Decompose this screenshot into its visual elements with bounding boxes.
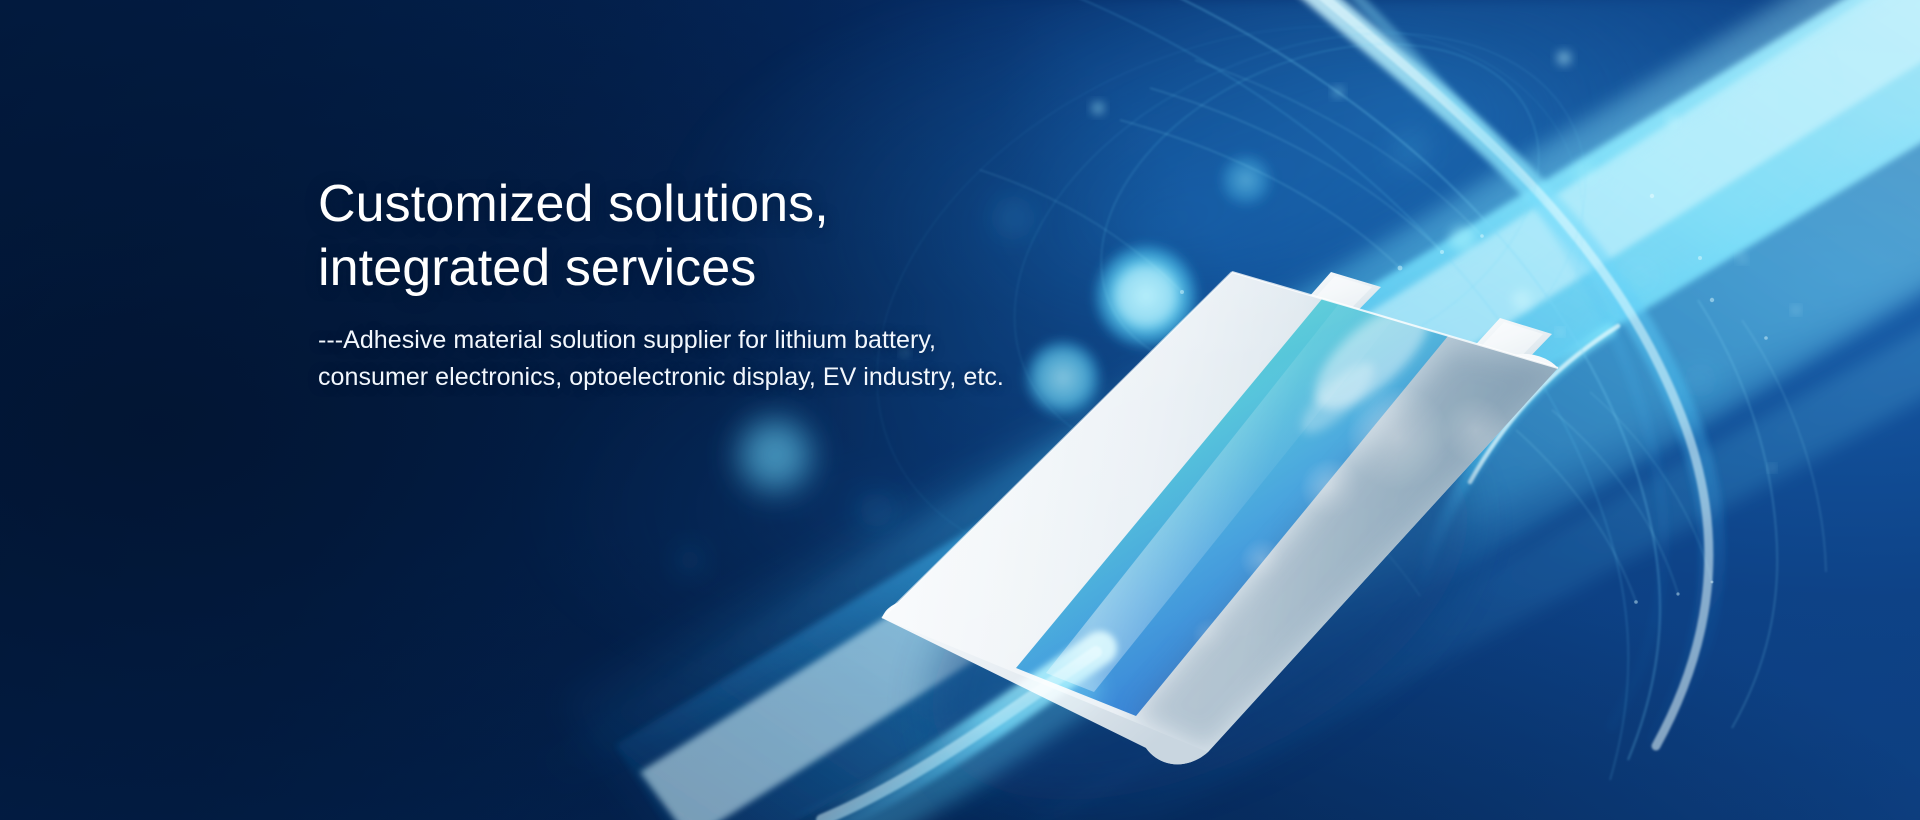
foreground-light-streak-decoration (0, 0, 1920, 820)
hero-copy-block: Customized solutions, integrated service… (318, 172, 1138, 396)
page-title: Customized solutions, integrated service… (318, 172, 1138, 300)
page-subtitle: ---Adhesive material solution supplier f… (318, 322, 1138, 396)
hero-banner: Customized solutions, integrated service… (0, 0, 1920, 820)
